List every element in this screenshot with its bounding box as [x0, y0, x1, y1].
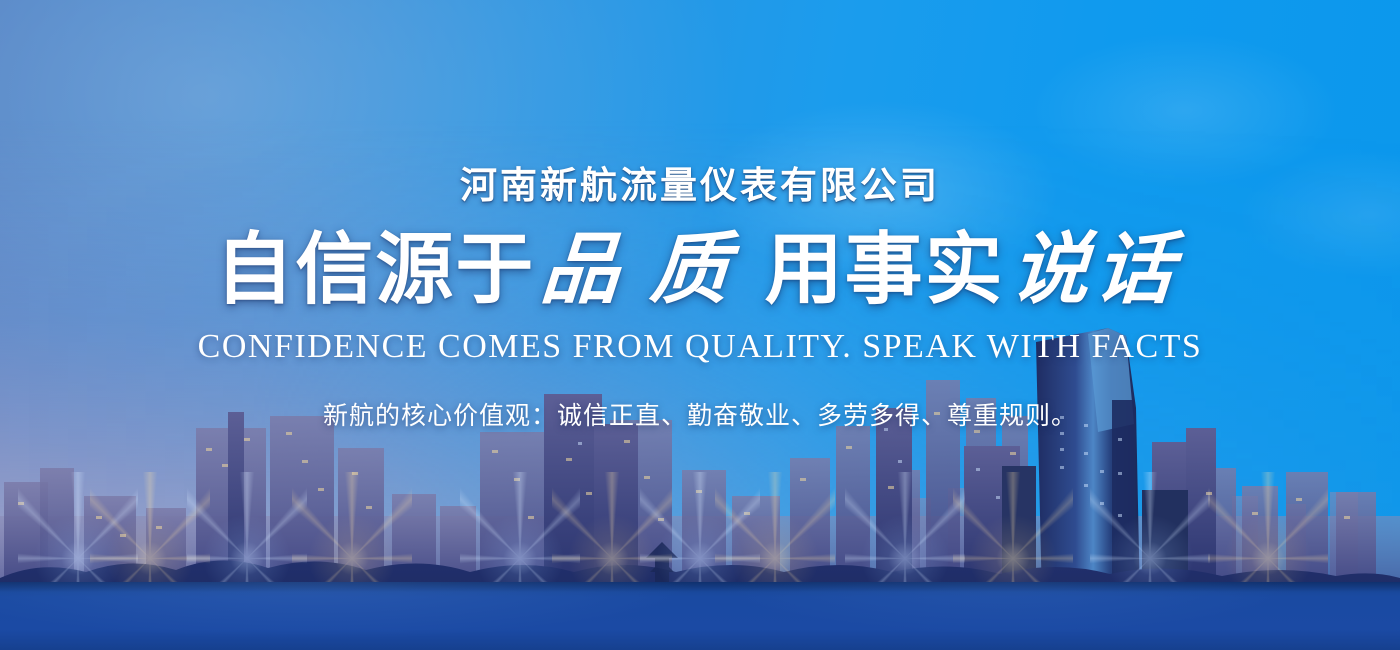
hero-banner: 河南新航流量仪表有限公司 自信源于品 质 用事实说话 CONFIDENCE CO… — [0, 0, 1400, 650]
headline-part-4-brush: 说话 — [1002, 228, 1188, 312]
water-reflection — [0, 582, 1400, 650]
headline-part-2-brush: 品 质 — [532, 228, 743, 312]
banner-copy: 河南新航流量仪表有限公司 自信源于品 质 用事实说话 CONFIDENCE CO… — [0, 0, 1400, 432]
slogan-english: CONFIDENCE COMES FROM QUALITY. SPEAK WIT… — [0, 328, 1400, 366]
headline: 自信源于品 质 用事实说话 — [0, 227, 1400, 312]
headline-part-3: 用事实 — [765, 225, 1005, 313]
headline-part-1: 自信源于 — [215, 225, 535, 313]
core-values-line: 新航的核心价值观：诚信正直、勤奋敬业、多劳多得、尊重规则。 — [0, 396, 1400, 432]
company-name: 河南新航流量仪表有限公司 — [0, 155, 1400, 209]
